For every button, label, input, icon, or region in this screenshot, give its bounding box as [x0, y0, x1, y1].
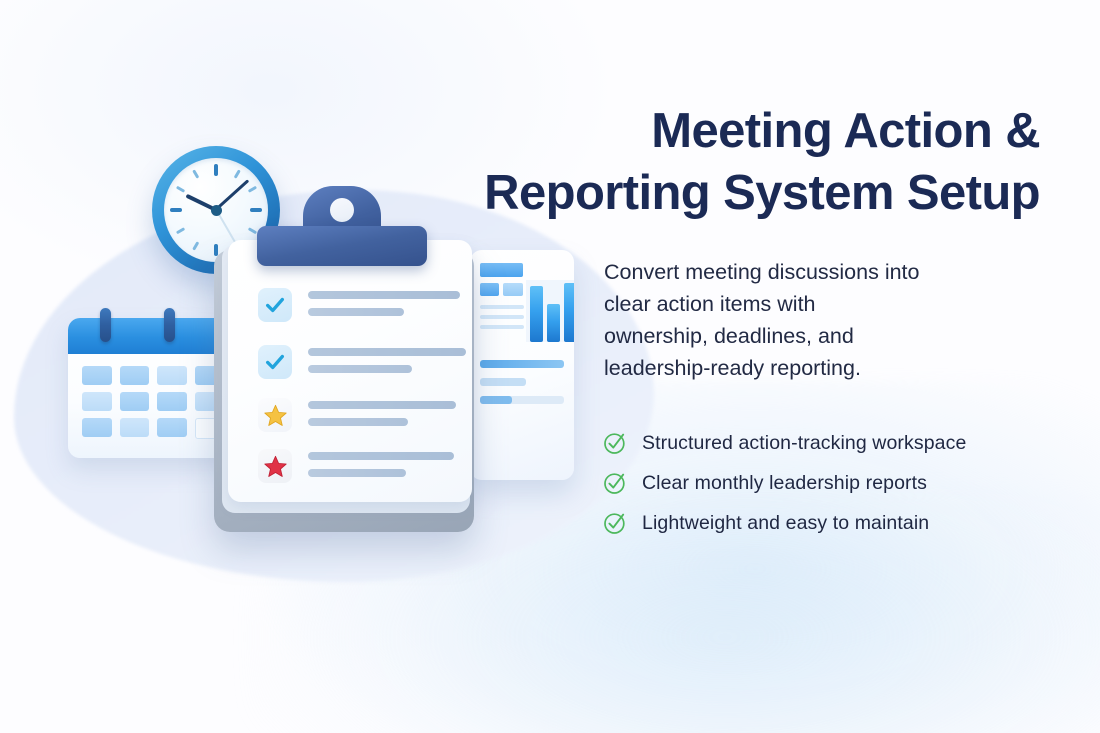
clipboard-text-line [308, 365, 412, 373]
feature-bullet-item: Structured action-tracking workspace [602, 423, 1042, 463]
clock-tick-mark [175, 186, 184, 193]
feature-bullet-item: Lightweight and easy to maintain [602, 503, 1042, 543]
calendar-day-cell [157, 392, 187, 411]
clock-tick-mark [192, 241, 199, 250]
page-title: Meeting Action & Reporting System Setup [480, 100, 1040, 224]
clipboard-checklist-row [258, 398, 456, 432]
clipboard-row-text-lines [308, 288, 460, 316]
report-footer-line [480, 360, 564, 368]
report-text-line [480, 325, 524, 329]
report-text-line [480, 315, 524, 319]
clock-tick-mark [192, 169, 199, 178]
clipboard-clip-bar [257, 226, 427, 266]
clipboard-text-line [308, 348, 466, 356]
meeting-action-illustration [0, 0, 620, 620]
feature-bullet-label: Lightweight and easy to maintain [642, 512, 929, 535]
clipboard-row-text-lines [308, 345, 466, 373]
clock-tick-mark [233, 169, 240, 178]
clipboard-paper [228, 240, 472, 502]
calendar-day-cell [82, 392, 112, 411]
check-circle-icon [602, 470, 628, 496]
report-bar [547, 304, 560, 342]
star-icon-gold [258, 398, 292, 432]
calendar-day-cell [82, 366, 112, 385]
clipboard-text-line [308, 308, 404, 316]
report-text-line [480, 305, 524, 309]
report-footer-line [480, 378, 526, 386]
clock-tick-mark [247, 186, 256, 193]
report-small-block [480, 283, 499, 296]
clock-tick-mark [214, 164, 218, 176]
report-bar [530, 286, 543, 342]
report-bar [564, 283, 574, 342]
calendar-day-cell [120, 392, 150, 411]
clipboard-clip-hole [330, 198, 354, 222]
clipboard-checklist-row [258, 449, 454, 483]
clipboard-text-line [308, 452, 454, 460]
calendar-day-cell [157, 366, 187, 385]
clipboard-checklist-row [258, 345, 466, 379]
clipboard-checklist-row [258, 288, 460, 322]
clock-tick-mark [250, 208, 262, 212]
clock-tick-mark [170, 208, 182, 212]
feature-bullet-label: Structured action-tracking workspace [642, 432, 966, 455]
calendar-ring [100, 308, 111, 342]
report-footer-line-fill [480, 396, 512, 404]
report-chart-area [526, 280, 574, 342]
check-circle-icon [602, 430, 628, 456]
feature-bullet-item: Clear monthly leadership reports [602, 463, 1042, 503]
clipboard-row-text-lines [308, 449, 454, 477]
feature-bullet-label: Clear monthly leadership reports [642, 472, 927, 495]
calendar-day-cell [120, 366, 150, 385]
clipboard-row-text-lines [308, 398, 456, 426]
calendar-ring [164, 308, 175, 342]
check-circle-icon [602, 510, 628, 536]
illustration-hero-banner: Meeting Action & Reporting System Setup … [0, 0, 1100, 733]
clock-tick-mark [247, 227, 256, 234]
clipboard-text-line [308, 291, 460, 299]
clipboard-text-line [308, 401, 456, 409]
clipboard-text-line [308, 418, 408, 426]
report-small-block [503, 283, 523, 296]
clipboard-text-line [308, 469, 406, 477]
calendar-day-cell [120, 418, 150, 437]
clock-tick-mark [175, 227, 184, 234]
calendar-day-cell [82, 418, 112, 437]
page-subtitle: Convert meeting discussions into clear a… [604, 256, 1004, 384]
check-icon [258, 288, 292, 322]
star-icon-red [258, 449, 292, 483]
report-header-block [480, 263, 523, 277]
clock-center-pin [211, 205, 222, 216]
calendar-day-cell [157, 418, 187, 437]
report-card [470, 250, 574, 480]
check-icon [258, 345, 292, 379]
feature-bullet-list: Structured action-tracking workspaceClea… [602, 423, 1042, 543]
